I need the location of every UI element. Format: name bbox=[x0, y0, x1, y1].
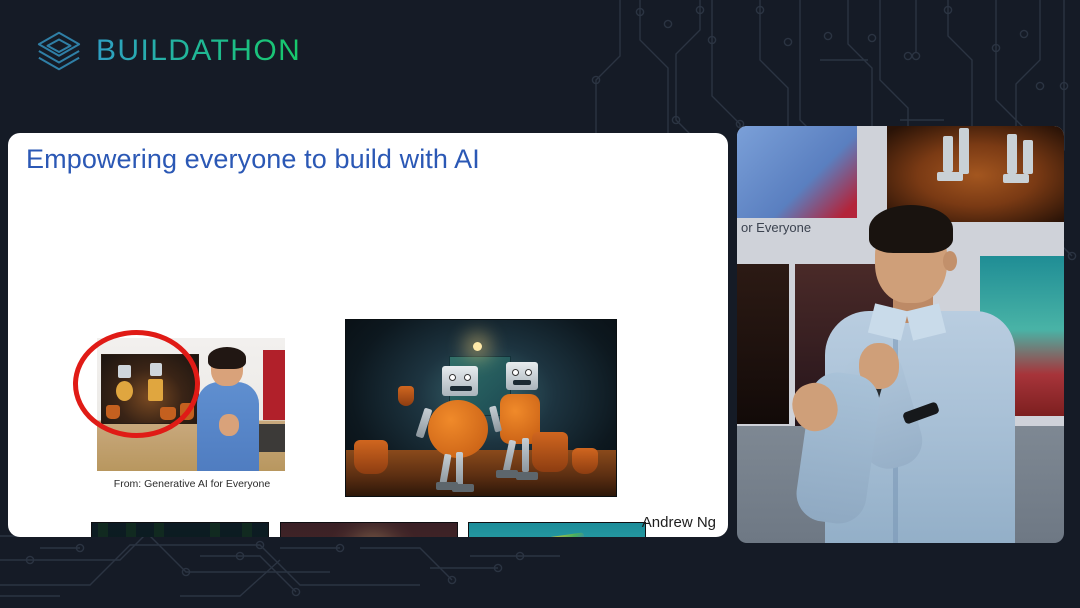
video-still-caption: From: Generative AI for Everyone bbox=[97, 478, 287, 490]
presentation-stage: BUILDATHON Empowering everyone to build … bbox=[0, 0, 1080, 608]
stacked-layers-diamond-icon bbox=[36, 28, 82, 74]
slide-author: Andrew Ng bbox=[642, 514, 716, 531]
slide-title: Empowering everyone to build with AI bbox=[26, 144, 480, 175]
red-ellipse-highlight bbox=[73, 330, 200, 438]
hero-image-robots-workshop bbox=[345, 319, 617, 497]
thumbnail-robots-campfire bbox=[91, 522, 269, 537]
brand-wordmark: BUILDATHON bbox=[96, 36, 301, 66]
speaker-figure bbox=[797, 193, 1017, 543]
brand-bar: BUILDATHON bbox=[36, 28, 301, 74]
speaker-video-panel[interactable]: or Everyone bbox=[737, 126, 1064, 543]
thumbnail-robots-dinner-table bbox=[280, 522, 458, 537]
slide-card: Empowering everyone to build with AI bbox=[8, 133, 728, 537]
thumbnail-robot-chess bbox=[468, 522, 646, 537]
